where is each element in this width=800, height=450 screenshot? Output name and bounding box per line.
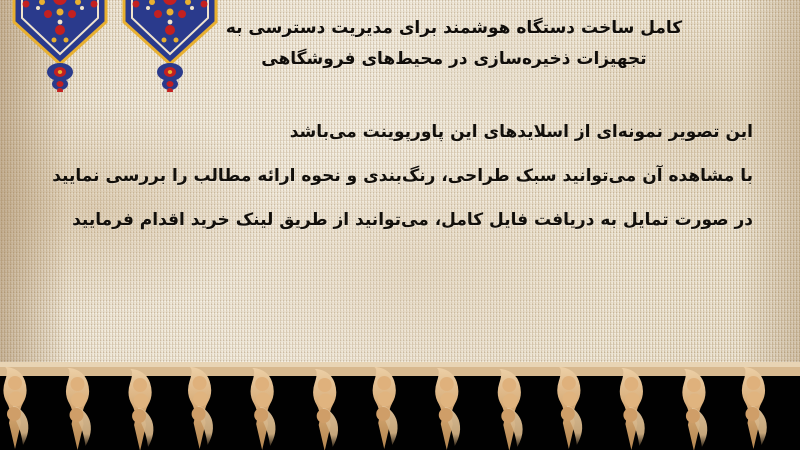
slide-title: کامل ساخت دستگاه هوشمند برای مدیریت دستر… <box>154 13 754 75</box>
title-line-2: تجهیزات ذخیره‌سازی در محیط‌های فروشگاهی <box>154 44 754 75</box>
text-layer: کامل ساخت دستگاه هوشمند برای مدیریت دستر… <box>0 0 800 378</box>
title-line-1: کامل ساخت دستگاه هوشمند برای مدیریت دستر… <box>154 13 754 44</box>
slide-body: این تصویر نمونه‌ای از اسلایدهای این پاور… <box>13 110 753 242</box>
slide-canvas: کامل ساخت دستگاه هوشمند برای مدیریت دستر… <box>0 0 800 450</box>
body-line-3: در صورت تمایل به دریافت فایل کامل، می‌تو… <box>13 198 753 242</box>
body-line-2: با مشاهده آن می‌توانید سبک طراحی، رنگ‌بن… <box>13 154 753 198</box>
body-line-1: این تصویر نمونه‌ای از اسلایدهای این پاور… <box>13 110 753 154</box>
black-backdrop-band <box>0 374 800 450</box>
